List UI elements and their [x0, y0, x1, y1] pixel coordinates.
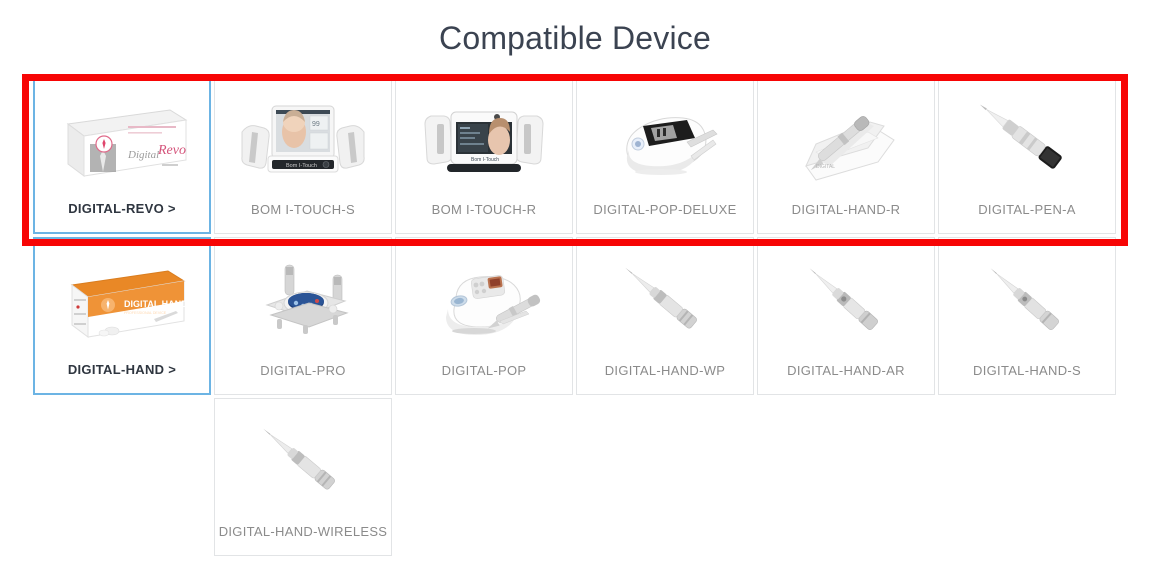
device-card-digital-revo[interactable]: Digital Revo DIGITAL-REVO > [33, 76, 211, 234]
device-card-digital-pop[interactable]: DIGITAL-POP [395, 237, 573, 395]
device-card-digital-hand[interactable]: DIGITAL HAND PROFESSIONAL DEVICE DIGITAL… [33, 237, 211, 395]
product-box-revo-icon: Digital Revo [35, 78, 209, 201]
svg-text:Bom I-Touch: Bom I-Touch [286, 163, 317, 169]
tablet-device-itouch-s-icon: 99 Bom I-Touch [215, 77, 391, 202]
svg-text:PROFESSIONAL DEVICE: PROFESSIONAL DEVICE [124, 311, 167, 315]
device-card-digital-pen-a[interactable]: DIGITAL-PEN-A [938, 76, 1116, 234]
console-pop-deluxe-icon [577, 77, 753, 202]
device-row-2: DIGITAL HAND PROFESSIONAL DEVICE DIGITAL… [33, 237, 1150, 395]
chrome-pen-s-icon [939, 238, 1115, 363]
device-card-label: DIGITAL-HAND-WIRELESS [219, 524, 388, 555]
device-card-digital-hand-wp[interactable]: DIGITAL-HAND-WP [576, 237, 754, 395]
device-card-label: DIGITAL-HAND > [68, 362, 176, 393]
device-card-digital-hand-wireless[interactable]: DIGITAL-HAND-WIRELESS [214, 398, 392, 556]
device-card-digital-hand-ar[interactable]: DIGITAL-HAND-AR [757, 237, 935, 395]
console-pop-icon [396, 238, 572, 363]
device-card-bom-i-touch-s[interactable]: 99 Bom I-Touch BOM I-TOUCH-S [214, 76, 392, 234]
svg-text:Digital: Digital [127, 149, 159, 161]
device-card-digital-pop-deluxe[interactable]: DIGITAL-POP-DELUXE [576, 76, 754, 234]
black-cap-pen-icon [939, 77, 1115, 202]
device-card-label: DIGITAL-HAND-AR [787, 363, 905, 394]
console-pro-icon [215, 238, 391, 363]
tablet-device-itouch-r-icon: Bom I-Touch [396, 77, 572, 202]
device-card-label: DIGITAL-HAND-WP [605, 363, 726, 394]
svg-text:Bom I-Touch: Bom I-Touch [471, 157, 499, 163]
device-card-label: DIGITAL-POP-DELUXE [593, 202, 736, 233]
device-card-label: DIGITAL-HAND-S [973, 363, 1081, 394]
device-card-label: BOM I-TOUCH-S [251, 202, 355, 233]
svg-text:DIGITAL HAND: DIGITAL HAND [124, 299, 188, 309]
svg-text:Revo: Revo [157, 143, 186, 158]
device-card-digital-hand-r[interactable]: DIGITAL DIGITAL-HAND-R [757, 76, 935, 234]
device-card-label: DIGITAL-HAND-R [792, 202, 901, 233]
device-card-bom-i-touch-r[interactable]: Bom I-Touch BOM I-TOUCH-R [395, 76, 573, 234]
device-grid: Digital Revo DIGITAL-REVO > [0, 76, 1150, 556]
device-row-1: Digital Revo DIGITAL-REVO > [33, 76, 1150, 234]
device-card-label: BOM I-TOUCH-R [432, 202, 537, 233]
chrome-pen-wp-icon [577, 238, 753, 363]
chrome-pen-wireless-icon [215, 399, 391, 524]
svg-text:DIGITAL: DIGITAL [816, 164, 835, 170]
device-card-label: DIGITAL-PRO [260, 363, 345, 394]
pen-in-cradle-icon: DIGITAL [758, 77, 934, 202]
device-card-label: DIGITAL-REVO > [68, 201, 176, 232]
page-title: Compatible Device [0, 0, 1150, 60]
product-box-hand-icon: DIGITAL HAND PROFESSIONAL DEVICE [35, 239, 209, 362]
device-card-label: DIGITAL-POP [442, 363, 527, 394]
svg-text:99: 99 [312, 121, 320, 128]
device-row-3: DIGITAL-HAND-WIRELESS [214, 398, 1150, 556]
device-card-label: DIGITAL-PEN-A [978, 202, 1076, 233]
chrome-pen-ar-icon [758, 238, 934, 363]
device-card-digital-hand-s[interactable]: DIGITAL-HAND-S [938, 237, 1116, 395]
device-card-digital-pro[interactable]: DIGITAL-PRO [214, 237, 392, 395]
